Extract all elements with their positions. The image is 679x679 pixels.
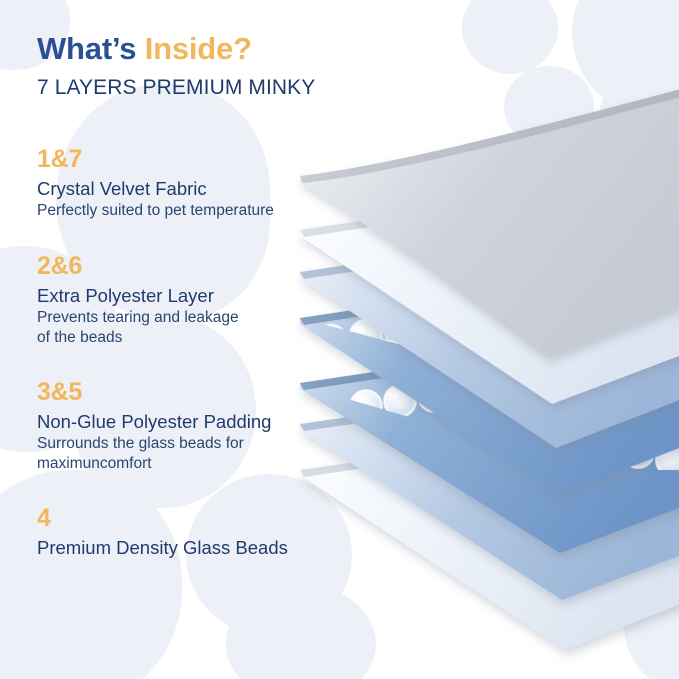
- layer-name: Non-Glue Polyester Padding: [37, 411, 271, 433]
- page-title: What’s Inside?: [37, 31, 252, 67]
- layer-name: Extra Polyester Layer: [37, 285, 239, 307]
- layer-number: 4: [37, 506, 288, 531]
- layer-description: Surrounds the glass beads formaximuncomf…: [37, 434, 271, 475]
- page-subtitle: 7 LAYERS PREMIUM MINKY: [37, 76, 315, 100]
- layer-item-4: 4 Premium Density Glass Beads: [37, 506, 288, 560]
- layer-number: 1&7: [37, 147, 274, 172]
- layer-item-2-and-6: 2&6 Extra Polyester Layer Prevents teari…: [37, 254, 239, 349]
- text-column: What’s Inside? 7 LAYERS PREMIUM MINKY 1&…: [0, 0, 340, 679]
- page-title-part-2: Inside?: [145, 31, 252, 66]
- layer-name: Premium Density Glass Beads: [37, 537, 288, 559]
- layer-item-1-and-7: 1&7 Crystal Velvet Fabric Perfectly suit…: [37, 147, 274, 221]
- layer-number: 2&6: [37, 254, 239, 279]
- page-title-part-1: What’s: [37, 31, 145, 66]
- layer-description: Prevents tearing and leakageof the beads: [37, 308, 239, 349]
- layer-description: Perfectly suited to pet temperature: [37, 201, 274, 221]
- layer-item-3-and-5: 3&5 Non-Glue Polyester Padding Surrounds…: [37, 380, 271, 475]
- layer-name: Crystal Velvet Fabric: [37, 178, 274, 200]
- infographic-root: What’s Inside? 7 LAYERS PREMIUM MINKY 1&…: [0, 0, 679, 679]
- layer-number: 3&5: [37, 380, 271, 405]
